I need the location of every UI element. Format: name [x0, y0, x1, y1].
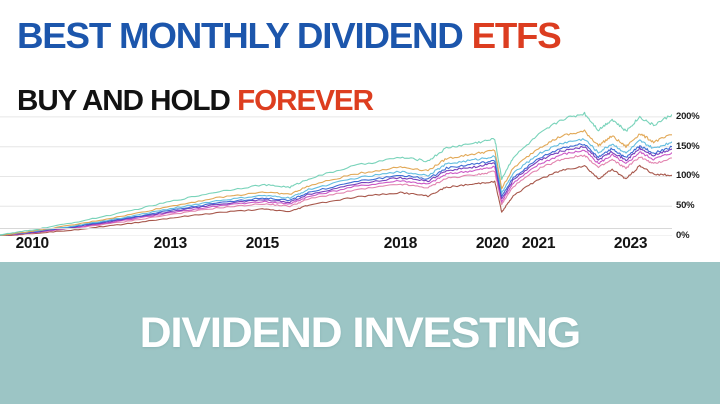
chart-gridlines	[0, 117, 672, 236]
headline-primary-red-text: ETFS	[472, 15, 561, 56]
x-tick-label: 2013	[154, 235, 187, 253]
y-tick-label: 100%	[676, 171, 700, 181]
headline-secondary-red-text: FOREVER	[237, 85, 373, 117]
bottom-banner: DIVIDEND INVESTING	[0, 262, 720, 404]
banner-title: DIVIDEND INVESTING	[140, 309, 580, 358]
x-axis: 2010201320152018202020212023	[0, 228, 720, 258]
chart-plot-area	[0, 108, 672, 236]
x-tick-label: 2020	[476, 235, 509, 253]
y-tick-label: 50%	[676, 201, 694, 211]
headline-secondary: BUY AND HOLD FOREVER	[17, 86, 373, 117]
youtube-thumbnail: 0%50%100%150%200% 2010201320152018202020…	[0, 0, 720, 404]
x-axis-rule	[0, 228, 672, 229]
chart-line-series-mint	[0, 112, 672, 235]
headline-primary: BEST MONTHLY DIVIDEND ETFS	[17, 17, 561, 55]
x-tick-label: 2010	[16, 235, 49, 253]
y-axis-labels: 0%50%100%150%200%	[676, 108, 720, 236]
y-tick-label: 200%	[676, 112, 700, 122]
headline-primary-blue-text: BEST MONTHLY DIVIDEND	[17, 15, 463, 56]
chart-svg	[0, 108, 672, 236]
y-tick-label: 150%	[676, 142, 700, 152]
chart-series-group	[0, 112, 672, 236]
x-tick-label: 2021	[522, 235, 555, 253]
x-tick-label: 2023	[614, 235, 647, 253]
x-tick-label: 2018	[384, 235, 417, 253]
performance-chart: 0%50%100%150%200% 2010201320152018202020…	[0, 108, 720, 258]
x-tick-label: 2015	[246, 235, 279, 253]
headline-secondary-black-text: BUY AND HOLD	[17, 85, 230, 117]
